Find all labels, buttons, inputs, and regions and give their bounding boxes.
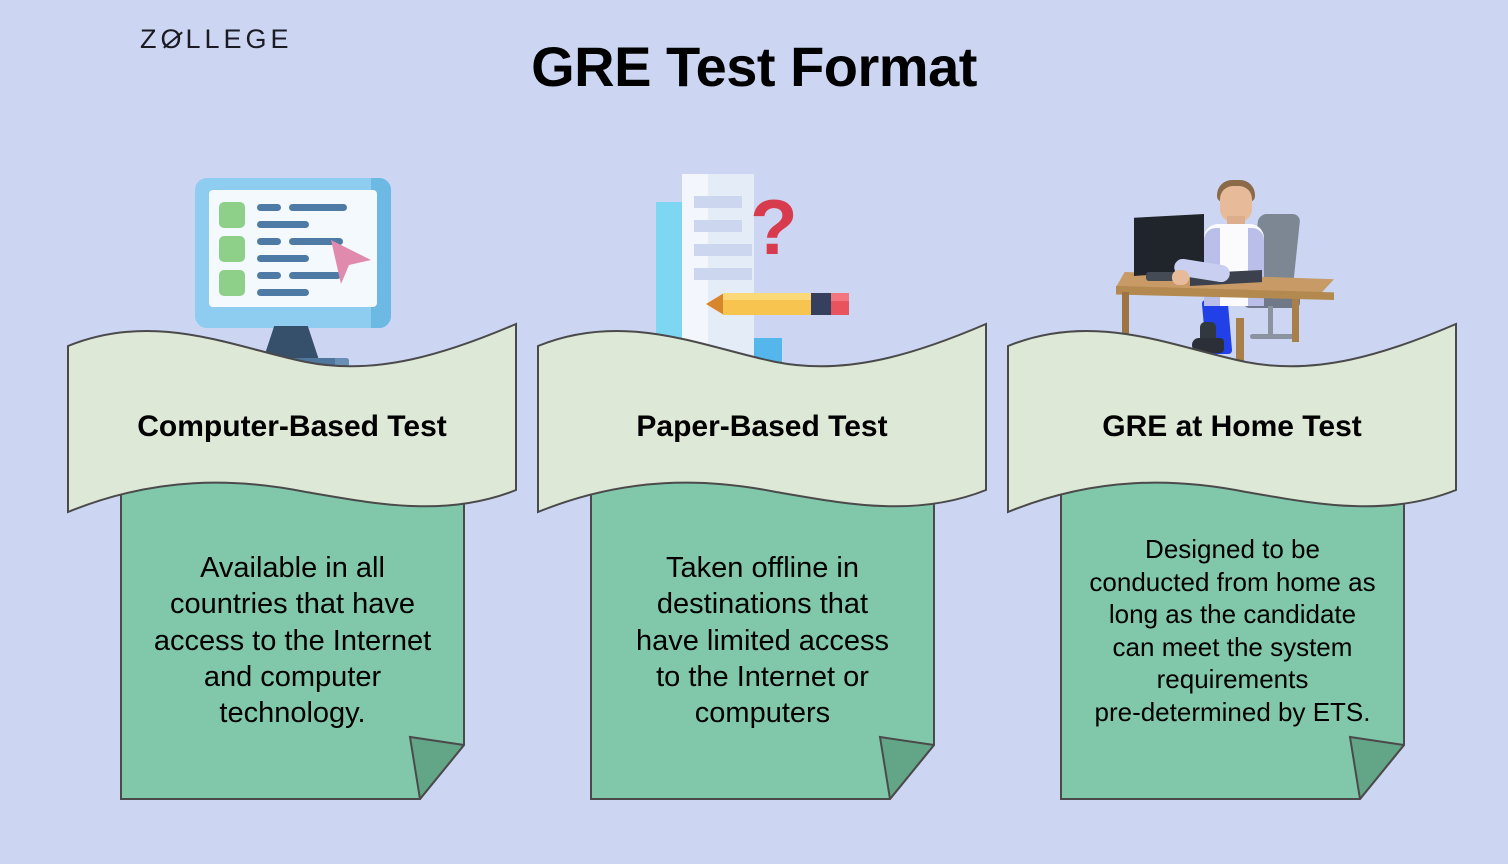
card-gre-at-home-test[interactable]: Designed to be conducted from home as lo…: [998, 0, 1468, 864]
paper-text-line: [694, 196, 742, 208]
pencil-icon: [706, 290, 852, 318]
screen-text-line: [289, 204, 347, 211]
card-title: GRE at Home Test: [1006, 410, 1458, 444]
card-title: Computer-Based Test: [66, 410, 518, 444]
screen-text-line: [257, 204, 281, 211]
monitor-screen: [209, 190, 377, 307]
screen-green-square: [219, 270, 245, 296]
paper-text-line: [694, 268, 752, 280]
card-paper-based-test[interactable]: ? Taken offline in destinations that hav…: [528, 0, 998, 864]
card-description: Available in all countries that have acc…: [120, 550, 465, 731]
pencil-tip: [706, 293, 724, 315]
pencil-body-highlight: [723, 293, 811, 300]
card-description: Taken offline in destinations that have …: [590, 550, 935, 731]
paper-text-line: [694, 220, 742, 232]
screen-text-line: [257, 221, 309, 228]
paper-text-line: [694, 244, 752, 256]
pencil-ferrule: [811, 293, 831, 315]
screen-text-line: [257, 289, 309, 296]
cards-container: Available in all countries that have acc…: [0, 0, 1508, 864]
card-title-banner: Computer-Based Test: [66, 318, 518, 523]
screen-text-line: [257, 255, 309, 262]
screen-text-line: [257, 238, 281, 245]
screen-text-line: [257, 272, 281, 279]
card-title-banner: GRE at Home Test: [1006, 318, 1458, 523]
screen-green-square: [219, 236, 245, 262]
card-title-banner: Paper-Based Test: [536, 318, 988, 523]
card-title: Paper-Based Test: [536, 410, 988, 444]
screen-green-square: [219, 202, 245, 228]
question-mark-icon: ?: [750, 188, 798, 266]
person-hand: [1172, 270, 1189, 285]
card-computer-based-test[interactable]: Available in all countries that have acc…: [58, 0, 528, 864]
card-description: Designed to be conducted from home as lo…: [1060, 533, 1405, 728]
pencil-eraser-highlight: [831, 293, 849, 301]
